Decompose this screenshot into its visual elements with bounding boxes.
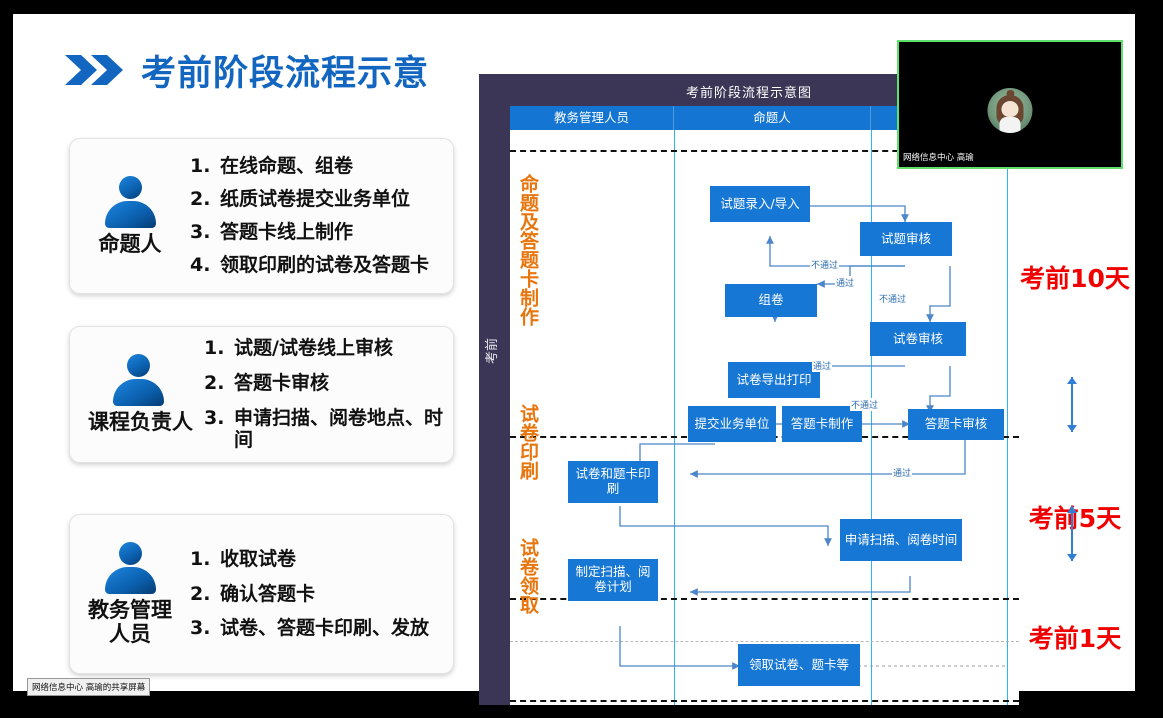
role-card-jiaowuguanli[interactable]: 教务管理 人员 1.收取试卷 2.确认答题卡 3.试卷、答题卡印刷、发放 bbox=[69, 514, 454, 674]
avatar-icon bbox=[988, 88, 1033, 133]
slide-title-row: 考前阶段流程示意 bbox=[65, 34, 460, 106]
flow-box-shitishenhe[interactable]: 试题审核 bbox=[860, 222, 952, 256]
role-card-person: 教务管理 人员 bbox=[70, 542, 190, 646]
list-item: 1.收取试卷 bbox=[190, 542, 445, 577]
edge-label-tongguo: 通过 bbox=[835, 276, 855, 289]
column-header-jiaowu: 教务管理人员 bbox=[510, 106, 674, 130]
flow-box-lingqushijuan[interactable]: 领取试卷、题卡等 bbox=[738, 644, 860, 686]
role-label: 教务管理 人员 bbox=[88, 599, 172, 646]
list-item: 2.答题卡审核 bbox=[204, 366, 445, 401]
role-card-person: 命题人 bbox=[70, 176, 190, 257]
stage-separator bbox=[510, 700, 1019, 702]
edge-label-tongguo: 通过 bbox=[812, 359, 832, 372]
flow-box-shitilururu[interactable]: 试题录入/导入 bbox=[710, 186, 810, 222]
screen-share-indicator: 网络信息中心 高瑜的共享屏幕 bbox=[27, 678, 150, 696]
list-item: 3.答题卡线上制作 bbox=[190, 216, 445, 249]
flow-box-zhidingsaomiao[interactable]: 制定扫描、阅卷计划 bbox=[568, 559, 658, 601]
flow-box-shijuanshenhe[interactable]: 试卷审核 bbox=[870, 322, 966, 356]
double-chevron-right-icon bbox=[65, 53, 127, 87]
person-icon bbox=[102, 542, 158, 594]
lane-divider bbox=[871, 130, 872, 705]
list-item: 1.试题/试卷线上审核 bbox=[204, 331, 445, 366]
left-content-pane: 考前阶段流程示意 命题人 1.在线命题、组卷 2.纸质试卷提交业务单位 3.答题… bbox=[55, 34, 460, 684]
flow-box-shijuanyinshua[interactable]: 试卷和题卡印刷 bbox=[568, 461, 658, 503]
flow-box-tijiaoyewu[interactable]: 提交业务单位 bbox=[688, 406, 776, 442]
screen: 考前阶段流程示意 命题人 1.在线命题、组卷 2.纸质试卷提交业务单位 3.答题… bbox=[0, 0, 1163, 718]
edge-label-butongguo: 不通过 bbox=[850, 398, 879, 411]
flow-box-shenqingsaomiao[interactable]: 申请扫描、阅卷时间 bbox=[840, 519, 962, 561]
stage-label-yinshua: 试卷印刷 bbox=[513, 404, 537, 480]
person-icon bbox=[110, 354, 166, 406]
edge-label-tongguo: 通过 bbox=[892, 466, 912, 479]
flow-box-shijuandaochu[interactable]: 试卷导出打印 bbox=[728, 362, 820, 398]
role-card-mingtiren[interactable]: 命题人 1.在线命题、组卷 2.纸质试卷提交业务单位 3.答题卡线上制作 4.领… bbox=[69, 138, 454, 294]
role-card-list: 1.试题/试卷线上审核 2.答题卡审核 3.申请扫描、阅卷地点、时间 bbox=[204, 331, 453, 458]
role-card-kechengfuzeren[interactable]: 课程负责人 1.试题/试卷线上审核 2.答题卡审核 3.申请扫描、阅卷地点、时间 bbox=[69, 326, 454, 463]
flow-box-zujuan[interactable]: 组卷 bbox=[725, 284, 817, 317]
video-participant-tile[interactable]: 网络信息中心 高瑜 bbox=[897, 40, 1123, 169]
flowchart-canvas: 教务管理人员 命题人 课程负责人 命题及答题卡制作 试卷印刷 试卷领取 bbox=[510, 106, 1019, 705]
edge-label-butongguo: 不通过 bbox=[810, 258, 839, 271]
list-item: 3.申请扫描、阅卷地点、时间 bbox=[204, 401, 445, 459]
role-card-person: 课程负责人 bbox=[70, 354, 204, 435]
flow-box-datikashenhe[interactable]: 答题卡审核 bbox=[908, 409, 1004, 440]
list-item: 4.领取印刷的试卷及答题卡 bbox=[190, 249, 445, 282]
flow-box-datikazhizuo[interactable]: 答题卡制作 bbox=[782, 406, 862, 442]
timing-badge-10days: 考前10天 bbox=[1019, 259, 1131, 295]
role-label: 课程负责人 bbox=[88, 411, 193, 435]
list-item: 2.确认答题卡 bbox=[190, 577, 445, 612]
page-title: 考前阶段流程示意 bbox=[141, 45, 429, 96]
stage-separator bbox=[510, 641, 1019, 642]
timing-arrow bbox=[1071, 506, 1073, 561]
participant-name-label: 网络信息中心 高瑜 bbox=[903, 151, 974, 163]
list-item: 1.在线命题、组卷 bbox=[190, 150, 445, 183]
role-card-list: 1.收取试卷 2.确认答题卡 3.试卷、答题卡印刷、发放 bbox=[190, 542, 453, 646]
person-icon bbox=[102, 176, 158, 228]
role-card-list: 1.在线命题、组卷 2.纸质试卷提交业务单位 3.答题卡线上制作 4.领取印刷的… bbox=[190, 150, 453, 281]
timing-badge-1day: 考前1天 bbox=[1019, 619, 1131, 655]
flowchart-side-label: 考前 bbox=[481, 338, 500, 364]
lane-divider bbox=[1007, 130, 1008, 705]
lane-divider bbox=[674, 130, 675, 705]
column-header-mingtiren: 命题人 bbox=[674, 106, 871, 130]
timing-badge-5days: 考前5天 bbox=[1019, 499, 1131, 535]
edge-label-butongguo: 不通过 bbox=[878, 292, 907, 305]
list-item: 2.纸质试卷提交业务单位 bbox=[190, 183, 445, 216]
role-label: 命题人 bbox=[99, 233, 162, 257]
stage-label-mingti: 命题及答题卡制作 bbox=[513, 174, 537, 326]
stage-label-lingqu: 试卷领取 bbox=[513, 538, 537, 614]
timing-arrow bbox=[1071, 377, 1073, 432]
list-item: 3.试卷、答题卡印刷、发放 bbox=[190, 611, 445, 646]
